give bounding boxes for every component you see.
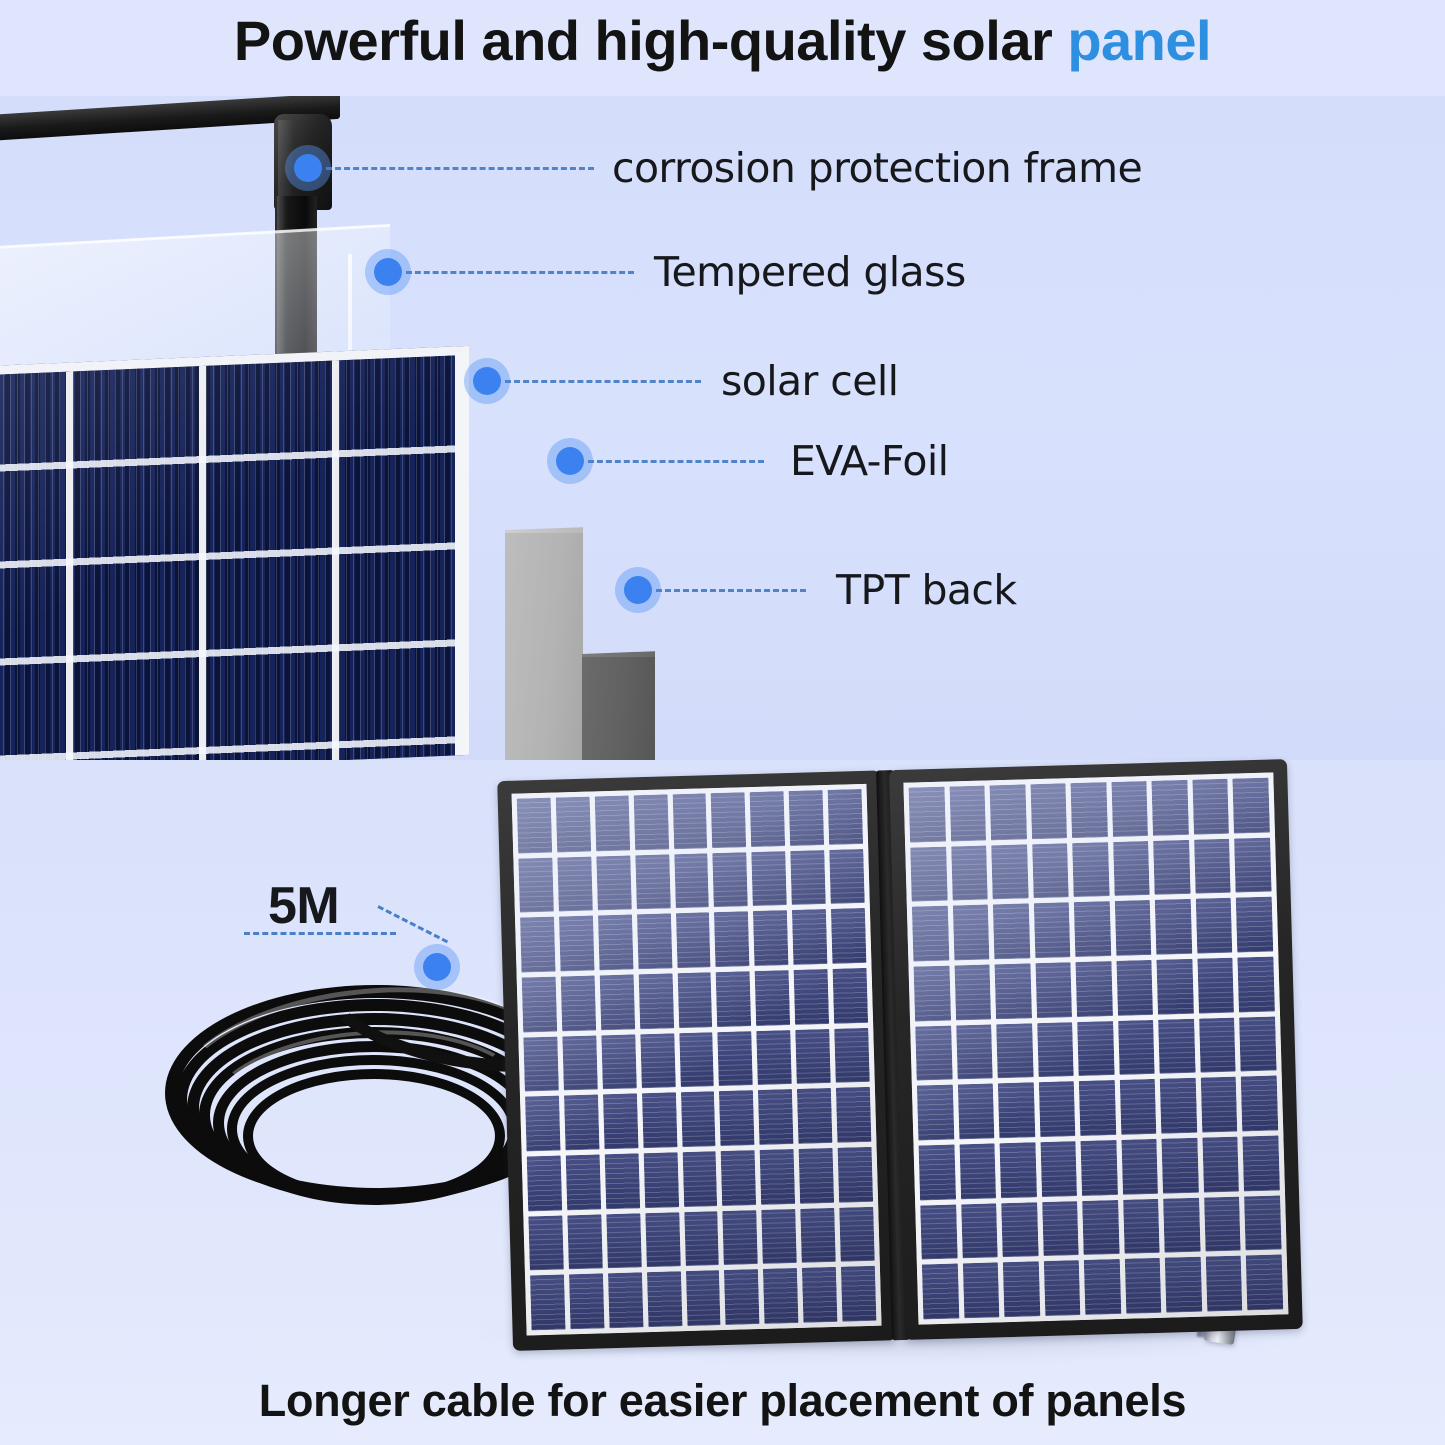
- panel-cell: [951, 845, 988, 901]
- panel-cell: [1206, 1256, 1243, 1312]
- panel-cell: [1040, 1141, 1077, 1197]
- panel-cell: [954, 964, 991, 1020]
- panel-cell: [838, 1147, 873, 1203]
- panel-cell: [1194, 838, 1231, 894]
- callout-dot-icon: [473, 367, 501, 395]
- panel-cell: [640, 1033, 675, 1089]
- panel-cell: [1192, 779, 1229, 835]
- panel-cell: [1199, 1017, 1236, 1073]
- panel-cell: [1113, 841, 1150, 897]
- panel-cell-grid: [512, 784, 882, 1336]
- panel-cell: [557, 856, 592, 912]
- panel-cell: [564, 1095, 599, 1151]
- callout-leader-line: [406, 271, 634, 274]
- panel-cell: [839, 1206, 874, 1262]
- panel-cell: [559, 916, 594, 972]
- panel-wing-right-laminate: [903, 772, 1288, 1324]
- panel-cell: [569, 1274, 604, 1330]
- panel-cell: [1121, 1139, 1158, 1195]
- callout-leader-line: [326, 167, 594, 170]
- panel-cell: [647, 1272, 682, 1328]
- panel-cell: [1081, 1140, 1118, 1196]
- panel-cell: [1202, 1137, 1239, 1193]
- panel-cell: [679, 1032, 714, 1088]
- panel-cell: [957, 1084, 994, 1140]
- panel-cell-grid: [903, 772, 1288, 1324]
- panel-cell: [1152, 780, 1189, 836]
- panel-cell: [711, 792, 746, 848]
- panel-cell: [990, 784, 1027, 840]
- callout-leader-line: [505, 380, 701, 383]
- callout-label-tempered-glass: Tempered glass: [654, 248, 966, 296]
- panel-cell: [1033, 903, 1070, 959]
- panel-cell: [1043, 1260, 1080, 1316]
- callout-leader-line: [656, 589, 806, 592]
- panel-cell: [566, 1154, 601, 1210]
- panel-cell: [1074, 901, 1111, 957]
- panel-cell: [556, 797, 591, 853]
- panel-cell: [912, 906, 949, 962]
- panel-cell: [1032, 843, 1069, 899]
- panel-cell: [794, 969, 829, 1025]
- panel-cell: [1153, 840, 1190, 896]
- panel-cell: [562, 1035, 597, 1091]
- panel-cell: [724, 1269, 759, 1325]
- panel-cell: [922, 1264, 959, 1320]
- panel-cell: [952, 905, 989, 961]
- panel-cell: [645, 1212, 680, 1268]
- panel-cell: [841, 1266, 876, 1322]
- cell-sheen: [0, 355, 455, 760]
- panel-cell: [567, 1214, 602, 1270]
- panel-cell: [642, 1093, 677, 1149]
- panel-cell: [637, 914, 672, 970]
- panel-cell: [760, 1149, 795, 1205]
- panel-cell: [909, 787, 946, 843]
- panel-wing-left: [497, 770, 896, 1350]
- panel-cell: [1162, 1138, 1199, 1194]
- panel-cell: [1076, 961, 1113, 1017]
- panel-cell: [1084, 1259, 1121, 1315]
- panel-cell: [676, 913, 711, 969]
- panel-cell: [604, 1153, 639, 1209]
- panel-cell: [606, 1213, 641, 1269]
- panel-cell: [757, 1030, 792, 1086]
- panel-cell: [677, 972, 712, 1028]
- callout-label-eva-foil: EVA-Foil: [790, 437, 948, 485]
- panel-cell: [1243, 1135, 1280, 1191]
- panel-cell: [917, 1085, 954, 1141]
- panel-cell: [797, 1088, 832, 1144]
- panel-cell: [833, 968, 868, 1024]
- panel-cell: [799, 1148, 834, 1204]
- panel-cell: [1037, 1022, 1074, 1078]
- panel-cell: [672, 793, 707, 849]
- panel-cell: [829, 849, 864, 905]
- panel-cell: [528, 1215, 563, 1271]
- callout-dot-icon: [624, 576, 652, 604]
- panel-cell: [1158, 1018, 1195, 1074]
- panel-cell: [682, 1151, 717, 1207]
- panel-cell: [750, 791, 785, 847]
- panel-cell: [995, 963, 1032, 1019]
- panel-cell: [1038, 1081, 1075, 1137]
- panel-cell: [949, 786, 986, 842]
- callout-dot-icon: [556, 447, 584, 475]
- panel-cell: [790, 850, 825, 906]
- panel-cell: [961, 1203, 998, 1259]
- panel-cell: [638, 973, 673, 1029]
- panel-cell: [789, 790, 824, 846]
- panel-cell: [686, 1270, 721, 1326]
- panel-cell: [802, 1267, 837, 1323]
- panel-cell: [1241, 1076, 1278, 1132]
- panel-cell: [522, 977, 557, 1033]
- panel-cell: [1030, 783, 1067, 839]
- panel-cell: [1233, 778, 1270, 834]
- panel-cell: [603, 1094, 638, 1150]
- callout-label-cable-length: 5M: [268, 876, 339, 936]
- panel-cell: [719, 1090, 754, 1146]
- panel-cell: [1163, 1197, 1200, 1253]
- panel-cell: [1115, 900, 1152, 956]
- solar-cell-layer: [0, 346, 469, 760]
- panel-cell: [596, 855, 631, 911]
- title-accent-text: panel: [1067, 9, 1211, 72]
- callout-dot-icon: [423, 953, 451, 981]
- panel-cell: [1111, 781, 1148, 837]
- panel-cell: [1071, 782, 1108, 838]
- callout-dot-icon: [294, 154, 322, 182]
- panel-cell: [1204, 1196, 1241, 1252]
- panel-cell: [1077, 1021, 1114, 1077]
- panel-cell: [1238, 957, 1275, 1013]
- panel-cell: [643, 1152, 678, 1208]
- panel-cell: [527, 1156, 562, 1212]
- panel-cell: [959, 1143, 996, 1199]
- panel-cell: [755, 970, 790, 1026]
- panel-cell: [1001, 1202, 1038, 1258]
- panel-cell: [1035, 962, 1072, 1018]
- panel-cell: [762, 1209, 797, 1265]
- panel-cell: [716, 971, 751, 1027]
- panel-cell: [714, 912, 749, 968]
- title-main-text: Powerful and high-quality solar: [234, 9, 1052, 72]
- infographic-canvas: Powerful and high-quality solar panel: [0, 0, 1445, 1445]
- panel-cell: [996, 1023, 1033, 1079]
- panel-cell: [1165, 1257, 1202, 1313]
- panel-cell: [635, 854, 670, 910]
- panel-cell: [1079, 1080, 1116, 1136]
- eva-foil-layer: [505, 533, 583, 760]
- folding-solar-panel: [497, 759, 1303, 1351]
- bottom-caption: Longer cable for easier placement of pan…: [0, 1375, 1445, 1427]
- tpt-back-layer: [582, 657, 655, 760]
- callout-dot-icon: [374, 258, 402, 286]
- panel-cell: [1125, 1258, 1162, 1314]
- panel-cell: [681, 1092, 716, 1148]
- panel-cell: [993, 904, 1030, 960]
- panel-cell: [674, 853, 709, 909]
- panel-cell: [1000, 1142, 1037, 1198]
- panel-cell: [914, 966, 951, 1022]
- panel-cell: [1155, 899, 1192, 955]
- panel-cell: [795, 1029, 830, 1085]
- panel-cell: [831, 908, 866, 964]
- panel-cell: [1235, 837, 1272, 893]
- panel-cell: [1197, 958, 1234, 1014]
- panel-cell: [836, 1087, 871, 1143]
- panel-cell: [721, 1150, 756, 1206]
- panel-cell: [1042, 1201, 1079, 1257]
- panel-cell: [1236, 897, 1273, 953]
- panel-cell: [763, 1268, 798, 1324]
- panel-cell: [1240, 1016, 1277, 1072]
- panel-cell: [633, 794, 668, 850]
- panel-cell: [561, 976, 596, 1032]
- panel-cell: [1116, 960, 1153, 1016]
- panel-cell: [919, 1145, 956, 1201]
- panel-cell: [525, 1096, 560, 1152]
- panel-cell: [523, 1036, 558, 1092]
- panel-cell: [753, 910, 788, 966]
- panel-cell: [910, 846, 947, 902]
- panel-cell: [1072, 842, 1109, 898]
- panel-cell: [1201, 1077, 1238, 1133]
- callout-leader-line: [588, 460, 764, 463]
- panel-cell: [1157, 959, 1194, 1015]
- panel-cell: [594, 795, 629, 851]
- panel-cell: [956, 1024, 993, 1080]
- cable-leader-line-horizontal: [244, 932, 396, 935]
- panel-cell: [599, 974, 634, 1030]
- panel-cell: [834, 1028, 869, 1084]
- panel-cell: [718, 1031, 753, 1087]
- panel-cell: [598, 915, 633, 971]
- callout-label-corrosion-protection-frame: corrosion protection frame: [612, 144, 1142, 192]
- panel-cell: [530, 1275, 565, 1331]
- panel-cell: [1160, 1078, 1197, 1134]
- panel-cell: [601, 1034, 636, 1090]
- panel-cell: [520, 917, 555, 973]
- panel-cell: [1246, 1255, 1283, 1311]
- panel-cell: [518, 857, 553, 913]
- panel-cell: [1118, 1020, 1155, 1076]
- panel-cell: [752, 851, 787, 907]
- panel-cell: [1196, 898, 1233, 954]
- panel-cell: [915, 1025, 952, 1081]
- panel-cell: [713, 852, 748, 908]
- panel-cell: [792, 909, 827, 965]
- panel-wing-right: [889, 759, 1303, 1340]
- panel-cell: [828, 789, 863, 845]
- panel-cell: [800, 1208, 835, 1264]
- panel-cell: [758, 1089, 793, 1145]
- panel-cell: [723, 1210, 758, 1266]
- panel-cell: [1082, 1200, 1119, 1256]
- panel-cell: [1245, 1195, 1282, 1251]
- panel-cell: [608, 1273, 643, 1329]
- page-title: Powerful and high-quality solar panel: [0, 8, 1445, 73]
- panel-wing-left-laminate: [512, 784, 882, 1336]
- panel-cell: [991, 844, 1028, 900]
- panel-cell: [684, 1211, 719, 1267]
- panel-cell: [1120, 1079, 1157, 1135]
- panel-cell: [920, 1204, 957, 1260]
- exploded-view-scene: [0, 96, 1445, 760]
- panel-cell: [998, 1083, 1035, 1139]
- panel-cell: [1003, 1262, 1040, 1318]
- panel-cell: [517, 798, 552, 854]
- callout-label-tpt-back: TPT back: [836, 566, 1016, 614]
- panel-cell: [1123, 1198, 1160, 1254]
- callout-label-solar-cell: solar cell: [721, 357, 898, 405]
- panel-cell: [962, 1263, 999, 1319]
